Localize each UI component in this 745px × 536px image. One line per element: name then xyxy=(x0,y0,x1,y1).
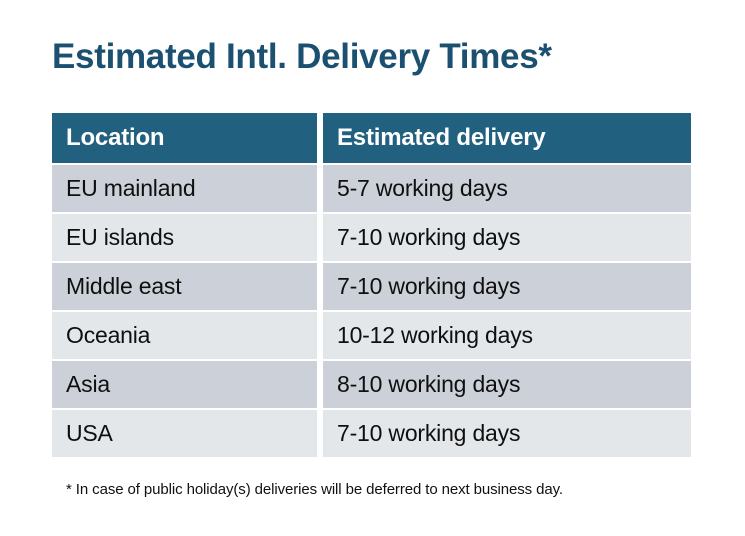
table-row: EU islands 7-10 working days xyxy=(52,214,691,261)
table-row: Middle east 7-10 working days xyxy=(52,263,691,310)
cell-delivery: 7-10 working days xyxy=(323,214,691,261)
page-title: Estimated Intl. Delivery Times* xyxy=(52,36,552,78)
cell-location: Oceania xyxy=(52,312,317,359)
delivery-times-page: Estimated Intl. Delivery Times* Location… xyxy=(0,0,745,536)
cell-location: USA xyxy=(52,410,317,457)
table-row: USA 7-10 working days xyxy=(52,410,691,457)
column-header-estimated-delivery: Estimated delivery xyxy=(323,113,691,163)
cell-delivery: 7-10 working days xyxy=(323,410,691,457)
cell-delivery: 5-7 working days xyxy=(323,165,691,212)
cell-delivery: 10-12 working days xyxy=(323,312,691,359)
cell-delivery: 7-10 working days xyxy=(323,263,691,310)
table-header-row: Location Estimated delivery xyxy=(52,113,691,163)
cell-delivery: 8-10 working days xyxy=(323,361,691,408)
table-row: Oceania 10-12 working days xyxy=(52,312,691,359)
table-row: Asia 8-10 working days xyxy=(52,361,691,408)
table-row: EU mainland 5-7 working days xyxy=(52,165,691,212)
footnote-text: * In case of public holiday(s) deliverie… xyxy=(66,481,563,498)
delivery-times-table: Location Estimated delivery EU mainland … xyxy=(52,113,691,459)
column-header-location: Location xyxy=(52,113,317,163)
cell-location: Asia xyxy=(52,361,317,408)
cell-location: EU islands xyxy=(52,214,317,261)
cell-location: Middle east xyxy=(52,263,317,310)
cell-location: EU mainland xyxy=(52,165,317,212)
